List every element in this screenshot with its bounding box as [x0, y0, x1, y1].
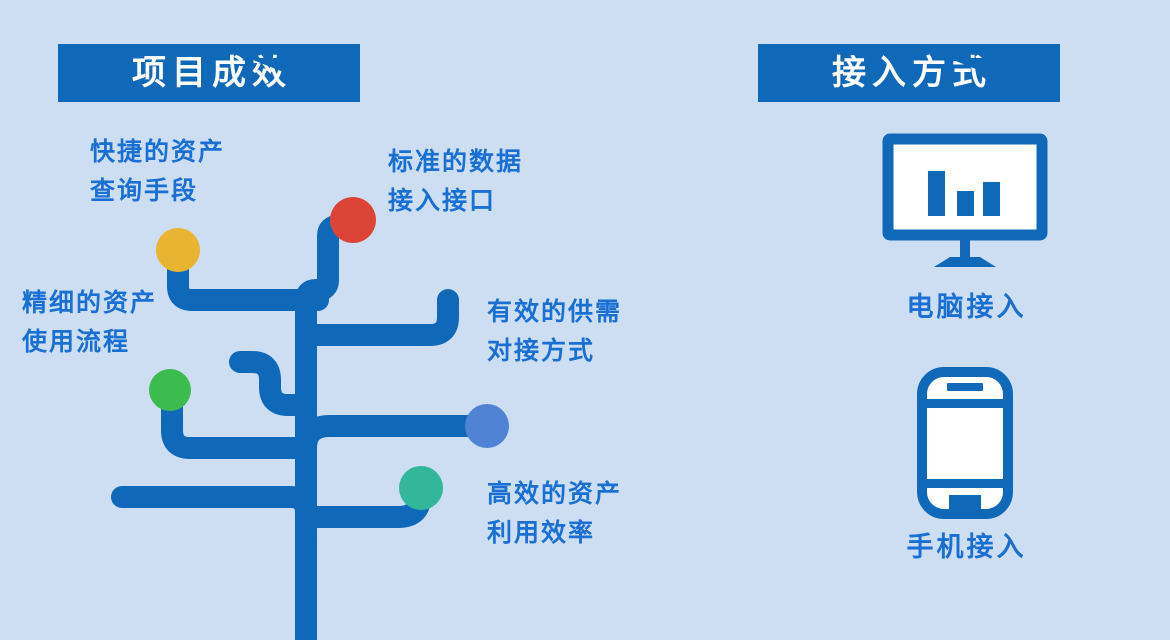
monitor-stand-base [934, 257, 996, 267]
tree-node-dot-red[interactable] [330, 197, 376, 243]
tree-label-quick-asset-query: 快捷的资产 查询手段 [90, 133, 225, 211]
tree-label-line-2: 查询手段 [90, 172, 225, 211]
monitor-bar-2 [957, 191, 974, 216]
tree-label-line-2: 利用效率 [487, 514, 622, 553]
tree-branch-paths [122, 226, 484, 640]
phone-body [922, 372, 1008, 514]
tree-label-line-1: 快捷的资产 [90, 133, 225, 172]
tree-label-high-asset-efficiency: 高效的资产 利用效率 [487, 475, 622, 553]
tree-label-line-2: 使用流程 [22, 323, 157, 362]
tree-node-dot-green[interactable] [149, 369, 191, 411]
tree-label-line-1: 标准的数据 [388, 143, 523, 182]
monitor-stand-neck [960, 235, 970, 260]
tree-node-dot-blue[interactable] [465, 404, 509, 448]
monitor-bar-3 [983, 182, 1000, 216]
monitor-chart-icon [882, 133, 1048, 273]
access-method-label-mobile: 手机接入 [760, 525, 1170, 564]
tree-label-standard-data-api: 标准的数据 接入接口 [388, 143, 523, 221]
monitor-bar-1 [928, 171, 945, 216]
phone-screen-top-edge [927, 399, 1003, 408]
monitor-screen [888, 139, 1042, 235]
tree-node-dot-teal[interactable] [399, 466, 443, 510]
tree-label-fine-asset-usage: 精细的资产 使用流程 [22, 284, 157, 362]
tree-label-line-2: 接入接口 [388, 182, 523, 221]
tree-node-dot-yellow[interactable] [156, 228, 200, 272]
smartphone-icon-wrap [760, 370, 1170, 515]
access-method-label-pc: 电脑接入 [760, 285, 1170, 324]
phone-home-button [949, 495, 981, 509]
phone-screen-bottom-edge [927, 479, 1003, 488]
tree-branch-lower-left [122, 497, 306, 525]
tree-label-line-1: 有效的供需 [487, 293, 622, 332]
tree-label-line-2: 对接方式 [487, 332, 622, 371]
tree-label-line-1: 高效的资产 [487, 475, 622, 514]
benefits-tree-graphic: 快捷的资产 查询手段 标准的数据 接入接口 精细的资产 使用流程 有效的供需 对… [0, 0, 700, 640]
tree-label-line-1: 精细的资产 [22, 284, 157, 323]
monitor-chart-icon-wrap [760, 130, 1170, 275]
tree-branch-upper-right [318, 300, 448, 335]
tree-label-effective-supply-demand: 有效的供需 对接方式 [487, 293, 622, 371]
access-method-pc[interactable]: 电脑接入 [760, 130, 1170, 324]
access-methods-column: 电脑接入 手机接入 [760, 120, 1170, 620]
phone-speaker-slot [947, 383, 983, 391]
tree-branch-to-yellow [178, 252, 318, 300]
smartphone-icon [916, 367, 1014, 519]
access-method-mobile[interactable]: 手机接入 [760, 370, 1170, 564]
infographic-canvas: 项目成效 接入方式 [0, 0, 1170, 640]
